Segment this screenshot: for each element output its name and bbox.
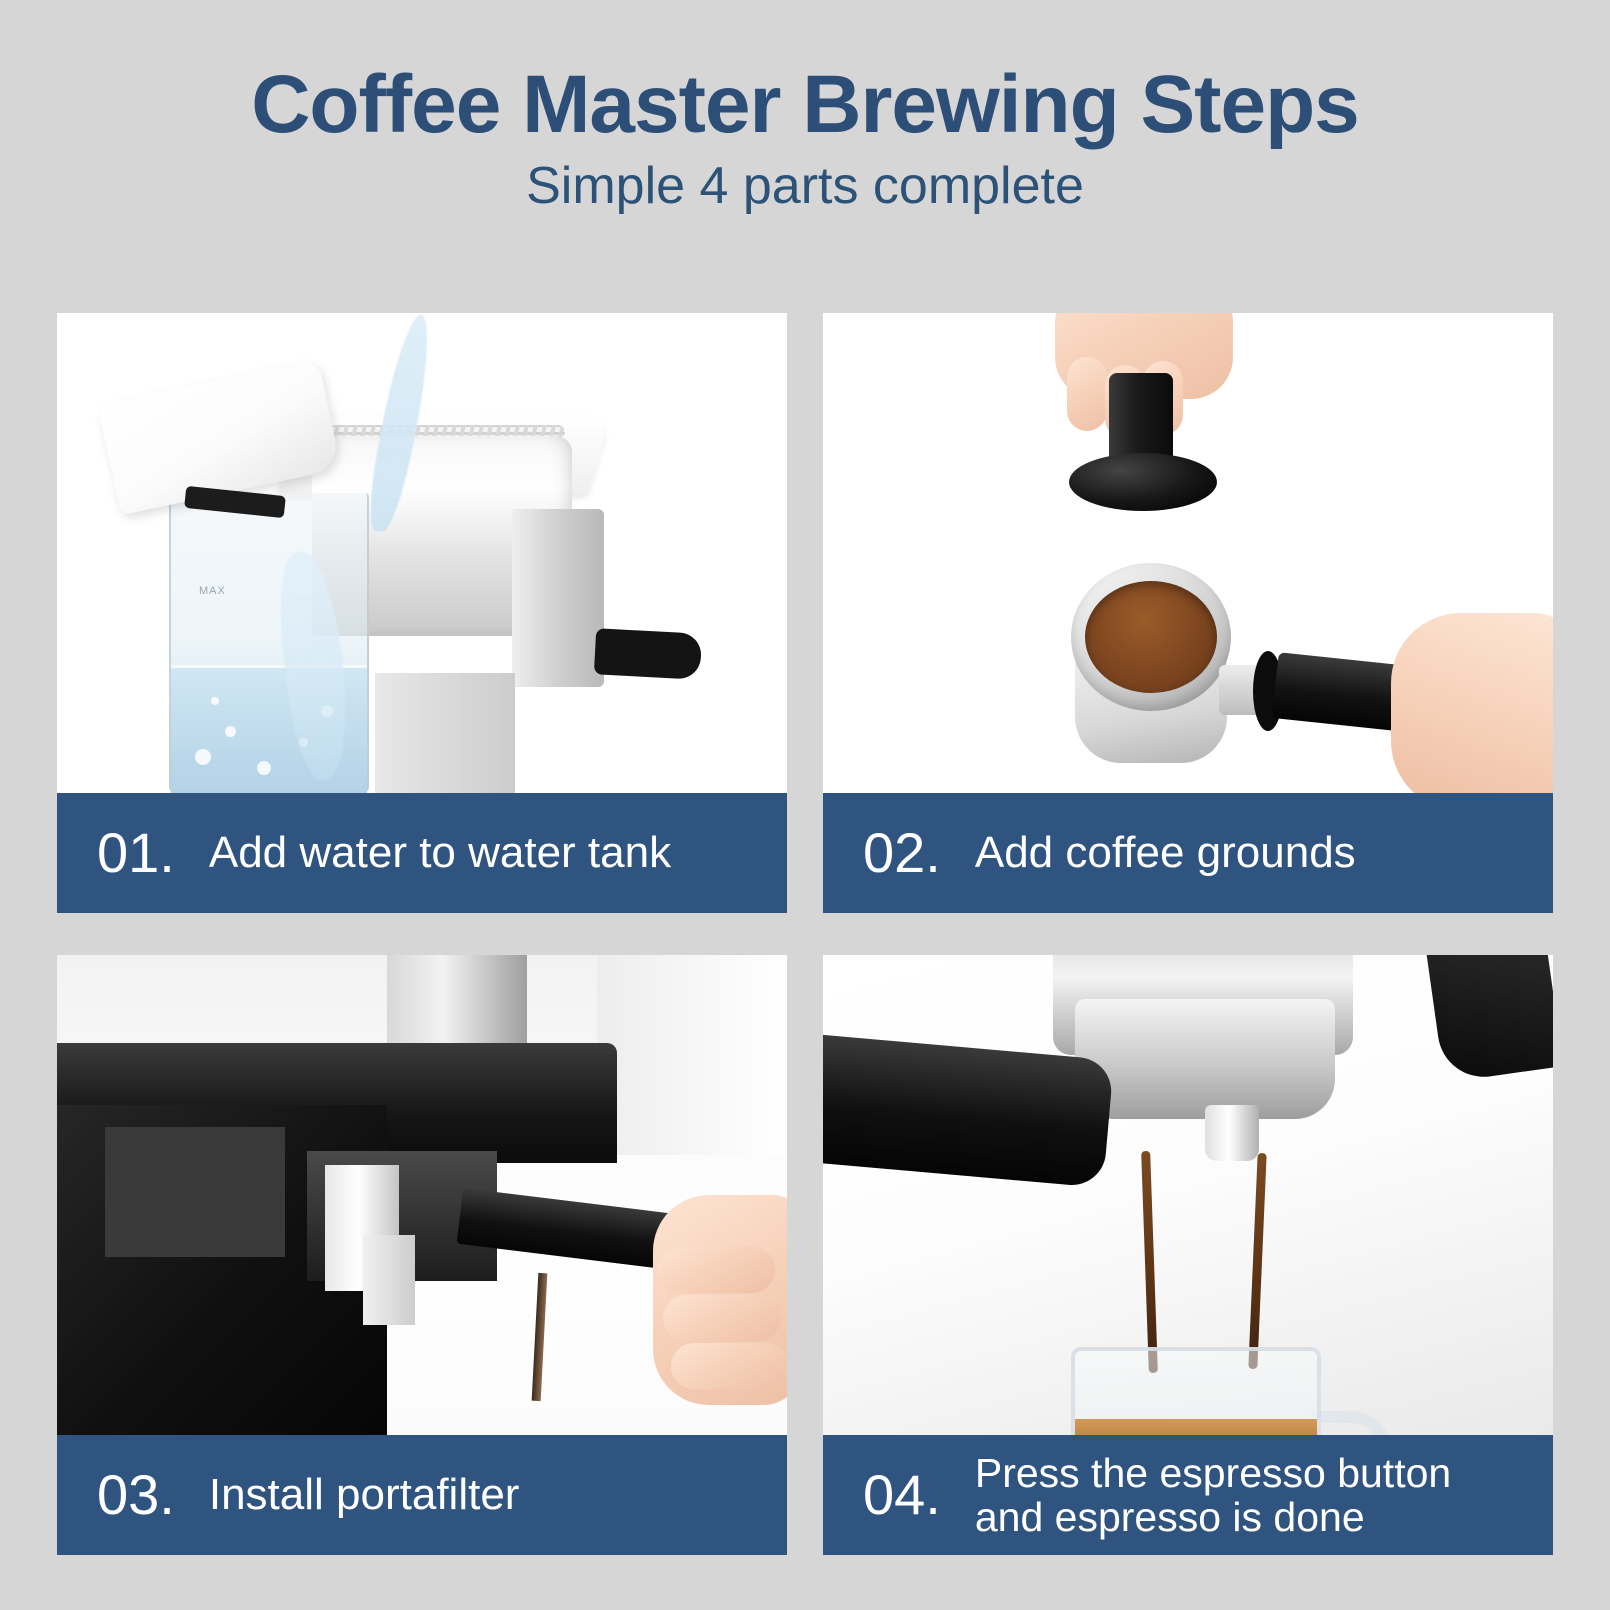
finger: [671, 1343, 787, 1389]
step-label-line1: Press the espresso button: [975, 1450, 1451, 1496]
finger: [657, 1247, 775, 1293]
machine-side-panel: [512, 509, 604, 687]
step-number: 03.: [97, 1467, 175, 1523]
finger: [663, 1295, 781, 1341]
step-label: Add coffee grounds: [975, 829, 1553, 877]
step-card-01: MAX 01. Add water to water tank: [57, 313, 787, 913]
espresso-stream: [1248, 1153, 1266, 1369]
water-bubble: [211, 697, 219, 705]
step-01-photo: MAX: [57, 313, 787, 793]
step-01-caption: 01. Add water to water tank: [57, 793, 787, 913]
step-03-scene: [57, 955, 787, 1435]
portafilter-grip: [823, 1034, 1114, 1188]
finger: [1067, 357, 1107, 431]
step-card-03: 03. Install portafilter: [57, 955, 787, 1555]
step-label: Install portafilter: [209, 1471, 787, 1519]
coffee-grounds: [1085, 581, 1217, 693]
step-number: 01.: [97, 825, 175, 881]
water-bubble: [225, 726, 236, 737]
machine-right-wall: [597, 955, 787, 1155]
step-label: Press the espresso button and espresso i…: [975, 1451, 1553, 1540]
machine-column: [375, 673, 515, 793]
page-title: Coffee Master Brewing Steps: [0, 62, 1610, 148]
drip-area-chrome: [363, 1235, 415, 1325]
header: Coffee Master Brewing Steps Simple 4 par…: [0, 0, 1610, 215]
hand-holding-portafilter: [1391, 613, 1553, 793]
water-bubble: [195, 749, 211, 765]
step-label: Add water to water tank: [209, 829, 787, 877]
steps-grid: MAX 01. Add water to water tank: [57, 313, 1553, 1555]
machine-right-arm: [1427, 955, 1553, 1083]
portafilter-spout: [1205, 1105, 1259, 1161]
water-bubble: [257, 761, 271, 775]
cup-handle: [1309, 1411, 1395, 1435]
portafilter-basket: [1075, 999, 1335, 1119]
espresso-glass-cup: [1071, 1347, 1321, 1435]
steam-nozzle: [594, 628, 702, 679]
page-subtitle: Simple 4 parts complete: [0, 158, 1610, 215]
step-03-caption: 03. Install portafilter: [57, 1435, 787, 1555]
step-02-photo: [823, 313, 1553, 793]
tamper-base: [1069, 453, 1217, 511]
step-number: 04.: [863, 1467, 941, 1523]
step-04-photo: [823, 955, 1553, 1435]
step-04-caption: 04. Press the espresso button and espres…: [823, 1435, 1553, 1555]
step-04-scene: [823, 955, 1553, 1435]
step-02-caption: 02. Add coffee grounds: [823, 793, 1553, 913]
crema-layer: [1075, 1419, 1317, 1435]
infographic-page: Coffee Master Brewing Steps Simple 4 par…: [0, 0, 1610, 1610]
step-label-line2: and espresso is done: [975, 1495, 1553, 1539]
step-03-photo: [57, 955, 787, 1435]
espresso-stream: [1141, 1151, 1158, 1373]
step-card-02: 02. Add coffee grounds: [823, 313, 1553, 913]
machine-inner-recess: [105, 1127, 285, 1257]
tank-max-label: MAX: [199, 585, 226, 597]
portafilter-spout: [532, 1273, 548, 1401]
step-number: 02.: [863, 825, 941, 881]
portafilter-basket: [1071, 563, 1231, 711]
step-card-04: 04. Press the espresso button and espres…: [823, 955, 1553, 1555]
